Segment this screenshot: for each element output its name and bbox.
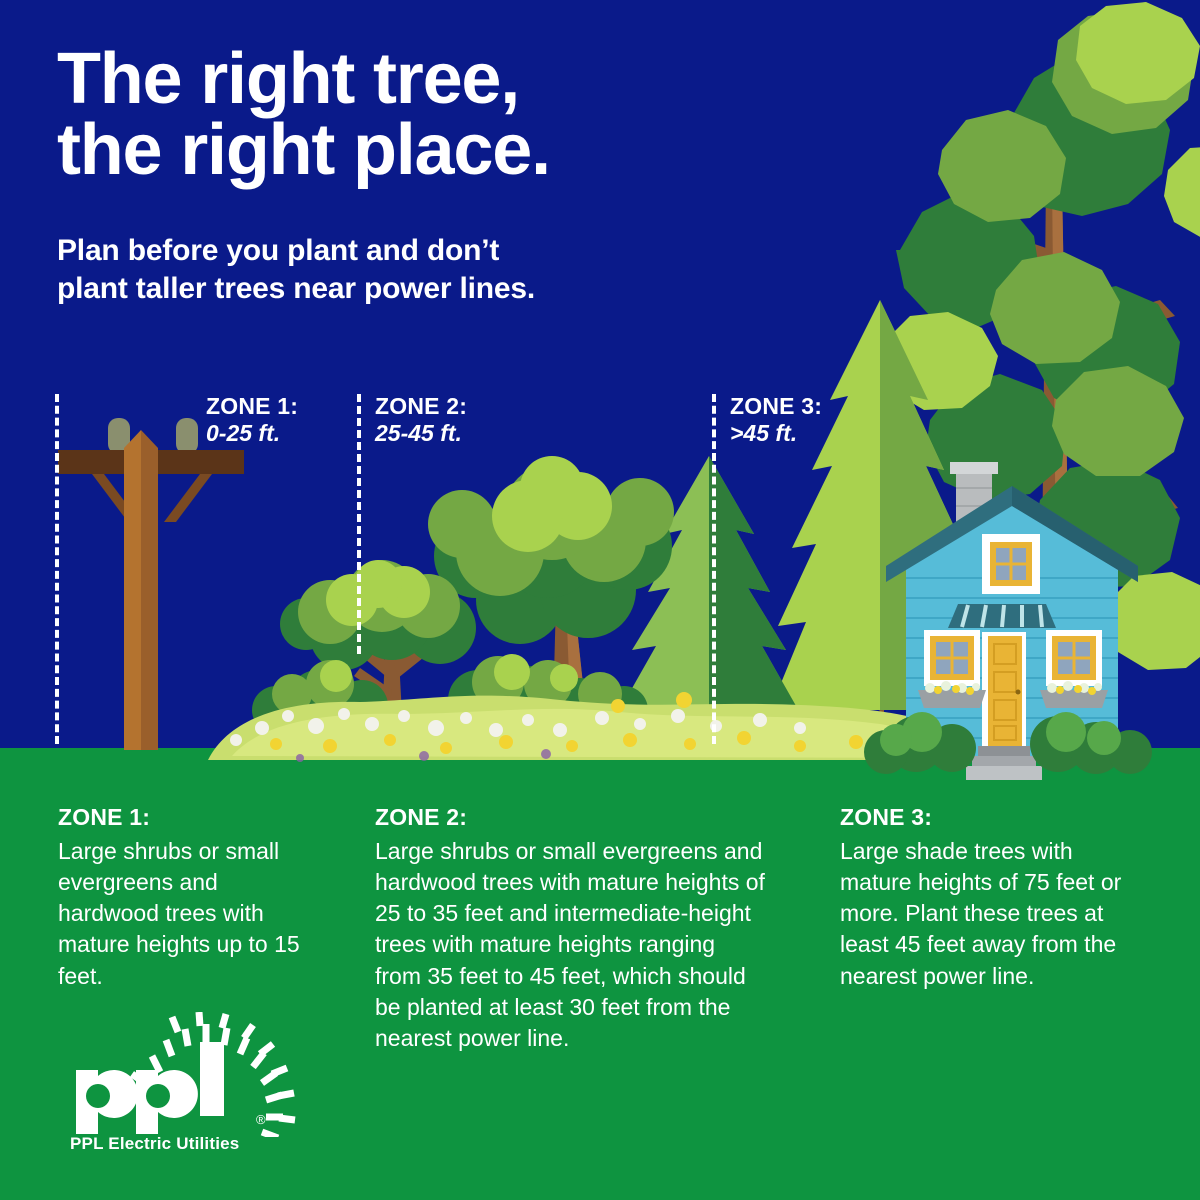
zone-2-heading: ZONE 2: <box>375 804 767 832</box>
page-subtitle: Plan before you plant and don’t plant ta… <box>57 232 697 309</box>
zone-3-description-block: ZONE 3: Large shade trees with mature he… <box>840 804 1150 992</box>
ppl-wordmark <box>76 1042 224 1134</box>
zone-1-marker-label: ZONE 1: 0-25 ft. <box>206 393 298 447</box>
zone-2-marker-title: ZONE 2: <box>375 393 467 420</box>
zone-3-dashed-line <box>712 394 716 744</box>
zone-3-body: Large shade trees with mature heights of… <box>840 836 1150 992</box>
page-title: The right tree, the right place. <box>57 44 757 187</box>
zone-1-heading: ZONE 1: <box>58 804 316 832</box>
infographic-canvas: ZONE 1: 0-25 ft. ZONE 2: 25-45 ft. ZONE … <box>0 0 1200 1200</box>
title-line-1: The right tree, <box>57 44 757 115</box>
zone-3-heading: ZONE 3: <box>840 804 1150 832</box>
zone-3-marker-range: >45 ft. <box>730 420 822 447</box>
zone-1-body: Large shrubs or small evergreens and har… <box>58 836 316 992</box>
title-line-2: the right place. <box>57 115 757 186</box>
zone-1-description-block: ZONE 1: Large shrubs or small evergreens… <box>58 804 316 992</box>
registered-mark: ® <box>256 1112 266 1127</box>
ppl-logo: ® PPL Electric Utilities <box>60 1012 310 1162</box>
logo-tagline: PPL Electric Utilities <box>70 1134 239 1154</box>
utility-pole-icon <box>58 418 244 750</box>
zone-2-marker-label: ZONE 2: 25-45 ft. <box>375 393 467 447</box>
zone-3-marker-label: ZONE 3: >45 ft. <box>730 393 822 447</box>
zone-3-marker-title: ZONE 3: <box>730 393 822 420</box>
zone-2-dashed-line <box>357 394 361 654</box>
ppl-logo-mark: ® <box>60 1012 310 1137</box>
zone-2-body: Large shrubs or small evergreens and har… <box>375 836 767 1055</box>
zone-1-marker-title: ZONE 1: <box>206 393 298 420</box>
subtitle-line-2: plant taller trees near power lines. <box>57 270 697 308</box>
zone-2-description-block: ZONE 2: Large shrubs or small evergreens… <box>375 804 767 1054</box>
zone-2-marker-range: 25-45 ft. <box>375 420 467 447</box>
zone-1-marker-range: 0-25 ft. <box>206 420 298 447</box>
zone-1-dashed-line <box>55 394 59 744</box>
subtitle-line-1: Plan before you plant and don’t <box>57 232 697 270</box>
